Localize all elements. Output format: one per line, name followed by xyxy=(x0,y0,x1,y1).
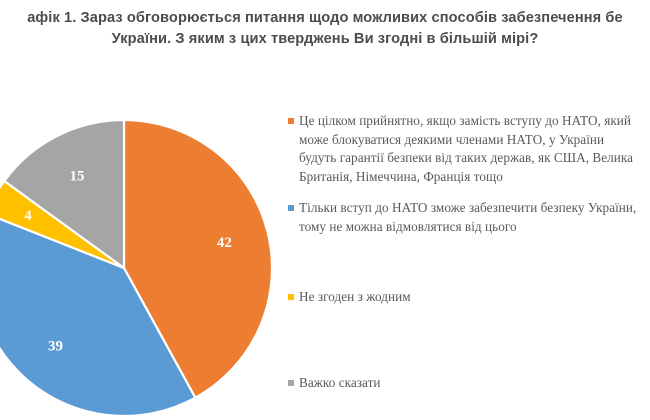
pie-chart-svg: 4239415 xyxy=(0,104,290,420)
legend-item-2[interactable]: Не згоден з жодним xyxy=(288,288,640,307)
slide-canvas: афік 1. Зараз обговорюється питання щодо… xyxy=(0,0,650,420)
chart-legend: Це цілком прийнятно, якщо замість вступу… xyxy=(288,112,650,412)
legend-swatch-icon-0 xyxy=(288,118,294,124)
legend-label-3: Важко сказати xyxy=(299,374,381,393)
chart-title: афік 1. Зараз обговорюється питання щодо… xyxy=(0,8,650,50)
legend-swatch-icon-2 xyxy=(288,294,294,300)
legend-item-3[interactable]: Важко сказати xyxy=(288,374,640,393)
legend-item-0[interactable]: Це цілком прийнятно, якщо замість вступу… xyxy=(288,112,640,186)
chart-title-line-1: афік 1. Зараз обговорюється питання щодо… xyxy=(0,8,650,29)
legend-swatch-icon-3 xyxy=(288,380,294,386)
pie-data-label-3: 15 xyxy=(69,169,84,185)
pie-chart-area: 4239415 xyxy=(0,88,290,420)
pie-data-label-0: 42 xyxy=(217,235,232,251)
pie-data-label-1: 39 xyxy=(48,339,63,355)
chart-title-line-2: України. З яким з цих тверджень Ви згодн… xyxy=(0,29,650,50)
legend-label-0: Це цілком прийнятно, якщо замість вступу… xyxy=(299,112,640,186)
legend-swatch-icon-1 xyxy=(288,205,294,211)
legend-item-1[interactable]: Тільки вступ до НАТО зможе забезпечити б… xyxy=(288,199,640,236)
pie-data-label-2: 4 xyxy=(24,208,32,224)
legend-label-2: Не згоден з жодним xyxy=(299,288,411,307)
legend-label-1: Тільки вступ до НАТО зможе забезпечити б… xyxy=(299,199,640,236)
